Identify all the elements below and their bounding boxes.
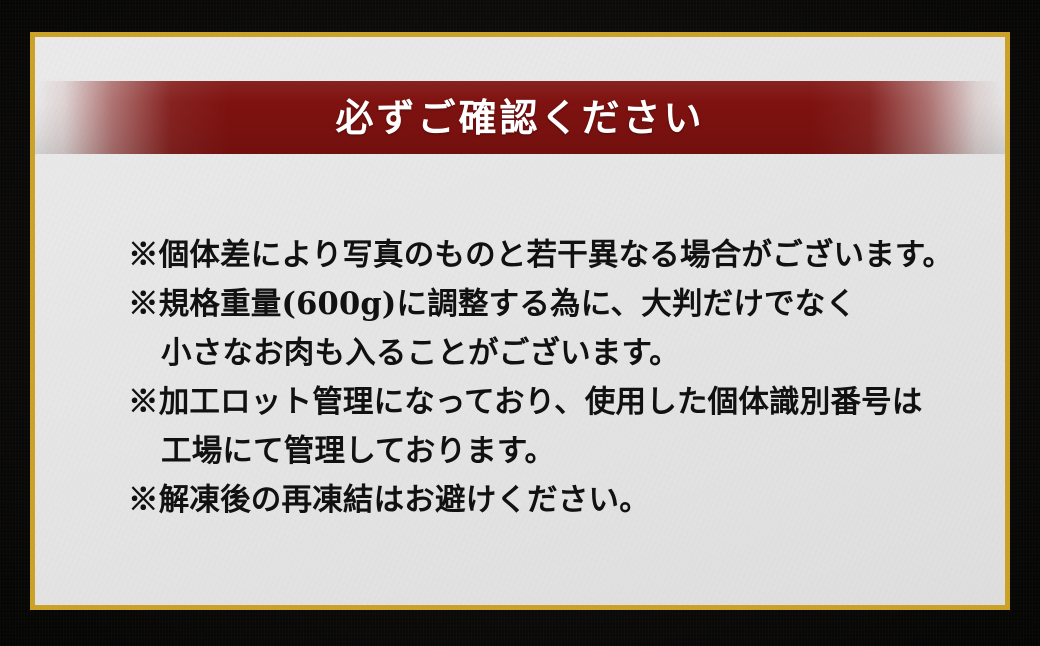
notes-list: ※個体差により写真のものと若干異なる場合がございます。 ※規格重量(600g)に…	[128, 231, 981, 525]
note-line: 小さなお肉も入ることがございます。	[128, 329, 981, 378]
note-line: 工場にて管理しております。	[128, 427, 981, 476]
notice-panel-inner: 必ずご確認ください ※個体差により写真のものと若干異なる場合がございます。 ※規…	[35, 37, 1005, 605]
title-banner: 必ずご確認ください	[35, 81, 1005, 154]
note-line: ※規格重量(600g)に調整する為に、大判だけでなく	[128, 280, 981, 329]
note-line: ※個体差により写真のものと若干異なる場合がございます。	[128, 231, 981, 280]
notice-panel: 必ずご確認ください ※個体差により写真のものと若干異なる場合がございます。 ※規…	[30, 32, 1010, 610]
note-line: ※解凍後の再凍結はお避けください。	[128, 476, 981, 525]
note-line: ※加工ロット管理になっており、使用した個体識別番号は	[128, 378, 981, 427]
page-title: 必ずご確認ください	[335, 99, 704, 137]
page-background: 必ずご確認ください ※個体差により写真のものと若干異なる場合がございます。 ※規…	[0, 0, 1040, 646]
